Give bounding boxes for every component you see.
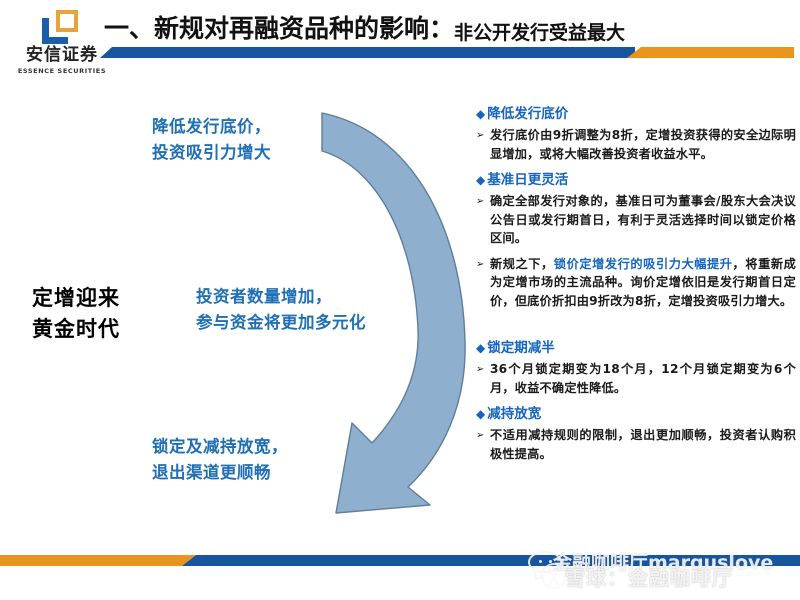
- bubble-eye-left: [539, 560, 542, 563]
- section-heading-reduction-relaxed: ◆ 减持放宽: [476, 404, 796, 424]
- brand-name-cn: 安信证券: [14, 46, 110, 65]
- brand-logo: 安信证券 ESSENCE SECURITIES: [14, 8, 110, 80]
- arrow-bullet-icon: ➢: [476, 255, 490, 274]
- list-item: ➢ 确定全部发行对象的，基准日可为董事会/股东大会决议公告日或发行期首日，有利于…: [476, 192, 796, 248]
- xueqiu-logo-icon: [541, 563, 567, 589]
- diamond-bullet-icon: ◆: [476, 104, 485, 124]
- list-item: ➢ 发行底价由9折调整为8折，定增投资获得的安全边际明显增加，或将大幅改善投资者…: [476, 126, 796, 163]
- right-content-column: ◆ 降低发行底价 ➢ 发行底价由9折调整为8折，定增投资获得的安全边际明显增加，…: [476, 104, 796, 466]
- section-heading-flexible-base-date: ◆ 基准日更灵活: [476, 170, 796, 190]
- list-item: ➢ 36个月锁定期变为18个月，12个月锁定期变为6个月，收益不确定性降低。: [476, 360, 796, 397]
- list-item-text: 36个月锁定期变为18个月，12个月锁定期变为6个月，收益不确定性降低。: [490, 360, 796, 397]
- brand-name-en: ESSENCE SECURITIES: [14, 67, 110, 75]
- curved-down-left-arrow-icon: [290, 105, 490, 525]
- arrow-bullet-icon: ➢: [476, 360, 490, 379]
- slide-canvas: 安信证券 ESSENCE SECURITIES 一、新规对再融资品种的影响： 非…: [0, 0, 800, 600]
- title-underline-bar: [100, 47, 794, 60]
- list-item-text-rich: 新规之下，锁价定增发行的吸引力大幅提升，将重新成为定增市场的主流品种。询价定增依…: [490, 255, 796, 311]
- left-headline: 定增迎来 黄金时代: [32, 283, 120, 345]
- list-item-text: 确定全部发行对象的，基准日可为董事会/股东大会决议公告日或发行期首日，有利于灵活…: [490, 192, 796, 248]
- arrow-bullet-icon: ➢: [476, 426, 490, 445]
- section-heading-text: 降低发行底价: [487, 104, 568, 124]
- logo-blue-l: [42, 18, 68, 44]
- list-item-text: 不适用减持规则的限制，退出更加顺畅，投资者认购积极性提高。: [490, 426, 796, 463]
- watermark-line-2: 雪球：金融咖啡厅: [565, 562, 733, 591]
- arrow-bullet-icon: ➢: [476, 192, 490, 211]
- callout-exit-channel: 锁定及减持放宽， 退出渠道更顺畅: [152, 434, 288, 486]
- essence-securities-logo-icon: [38, 8, 86, 46]
- section-heading-lockup-halved: ◆ 锁定期减半: [476, 338, 796, 358]
- section-heading-text: 锁定期减半: [487, 338, 555, 358]
- text-highlight: 锁价定增发行的吸引力大幅提升: [554, 257, 733, 271]
- page-title: 一、新规对再融资品种的影响：: [104, 14, 454, 44]
- callout-1-line2: 投资吸引力增大: [152, 140, 271, 166]
- section-heading-lower-floor-price: ◆ 降低发行底价: [476, 104, 796, 124]
- diamond-bullet-icon: ◆: [476, 404, 485, 424]
- section-heading-text: 基准日更灵活: [487, 170, 568, 190]
- callout-3-line1: 锁定及减持放宽，: [152, 434, 288, 460]
- title-bar-blue: [100, 47, 635, 58]
- page-subtitle: 非公开发行受益最大: [454, 21, 625, 45]
- callout-lower-floor-price: 降低发行底价， 投资吸引力增大: [152, 114, 271, 166]
- diamond-bullet-icon: ◆: [476, 170, 485, 190]
- text-pre: 新规之下，: [490, 257, 554, 271]
- list-item: ➢ 不适用减持规则的限制，退出更加顺畅，投资者认购积极性提高。: [476, 426, 796, 463]
- section-heading-text: 减持放宽: [487, 404, 541, 424]
- title-bar-orange: [627, 47, 794, 58]
- arrow-bullet-icon: ➢: [476, 126, 490, 145]
- callout-3-line2: 退出渠道更顺畅: [152, 460, 288, 486]
- section-spacer: [476, 313, 796, 331]
- footer-bar-orange: [0, 555, 196, 566]
- diamond-bullet-icon: ◆: [476, 338, 485, 358]
- list-item-text: 发行底价由9折调整为8折，定增投资获得的安全边际明显增加，或将大幅改善投资者收益…: [490, 126, 796, 163]
- footer-bar-blue: [182, 555, 800, 566]
- callout-1-line1: 降低发行底价，: [152, 114, 271, 140]
- list-item: ➢ 新规之下，锁价定增发行的吸引力大幅提升，将重新成为定增市场的主流品种。询价定…: [476, 255, 796, 311]
- left-headline-line1: 定增迎来: [32, 283, 120, 314]
- left-headline-line2: 黄金时代: [32, 314, 120, 345]
